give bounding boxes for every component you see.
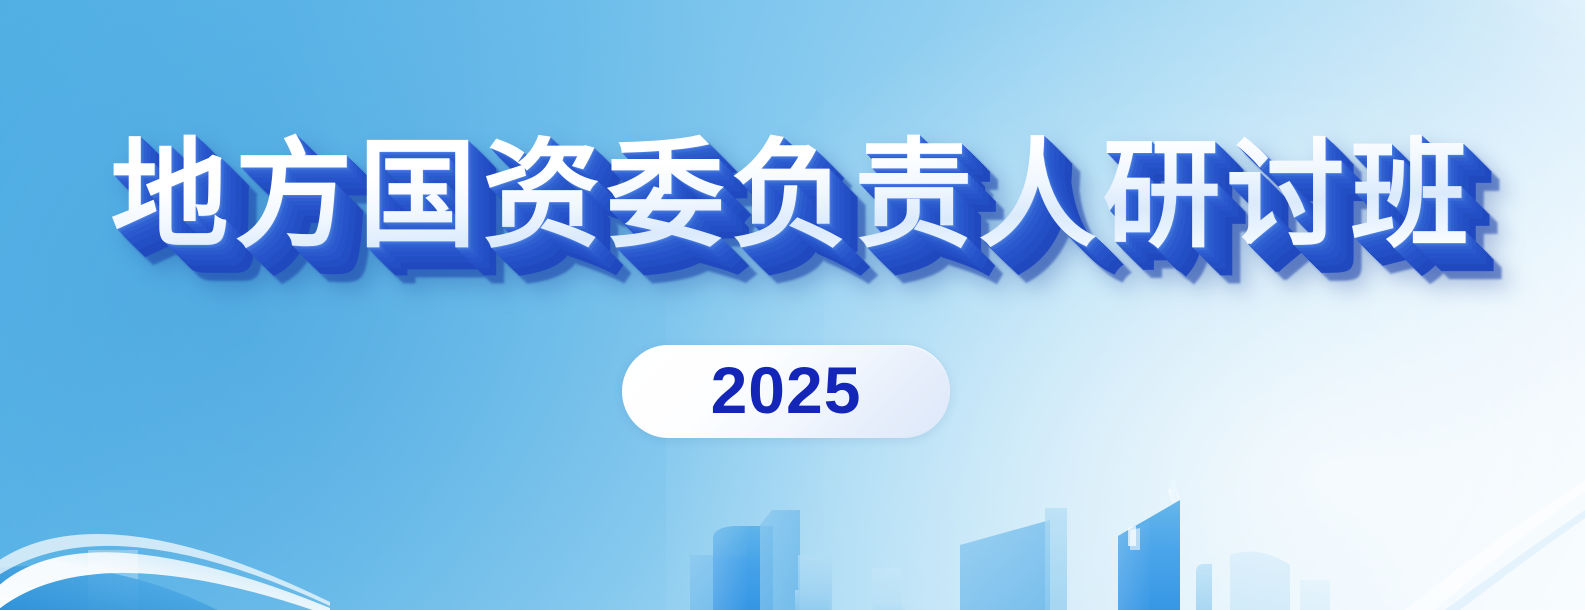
- banner-root: 地方国资委负责人研讨班 2025: [0, 0, 1585, 610]
- year-badge: 2025: [622, 345, 950, 438]
- background-sky-gradient: [0, 0, 1585, 610]
- year-badge-label: 2025: [711, 357, 862, 427]
